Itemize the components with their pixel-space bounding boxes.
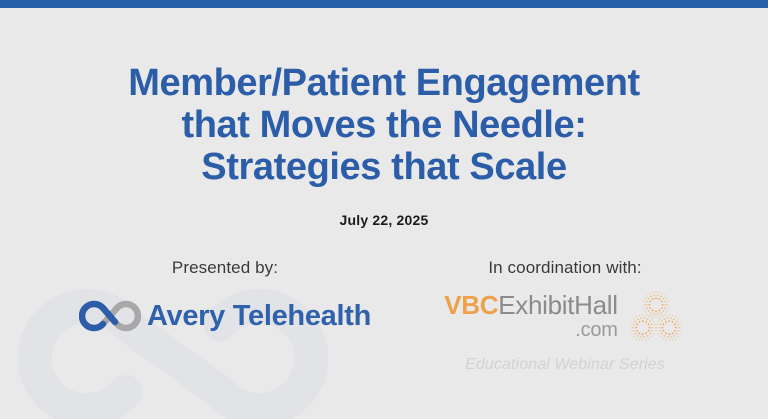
title-line-1: Member/Patient Engagement (0, 62, 768, 104)
dotted-trefoil-icon (626, 288, 686, 348)
slide-date: July 22, 2025 (0, 212, 768, 228)
coordinator-block: In coordination with: VBCExhibitHall .co… (400, 258, 730, 374)
avery-telehealth-wordmark: Avery Telehealth (147, 302, 371, 331)
vbc-domain-text: .com (444, 319, 618, 341)
infinity-loop-icon (79, 296, 141, 336)
top-accent-bar (0, 0, 768, 8)
presented-by-label: Presented by: (60, 258, 390, 278)
vbc-abbrev: VBC (444, 290, 498, 320)
in-coordination-with-label: In coordination with: (400, 258, 730, 278)
webinar-title-slide: Member/Patient Engagement that Moves the… (0, 0, 768, 419)
presenter-block: Presented by: Avery Telehealth (60, 258, 390, 336)
avery-telehealth-logo: Avery Telehealth (60, 296, 390, 336)
title-line-3: Strategies that Scale (0, 146, 768, 188)
vbc-wordmark-line-1: VBCExhibitHall (444, 292, 618, 319)
exhibit-hall-text: ExhibitHall (498, 290, 618, 320)
vbc-exhibit-hall-logo: VBCExhibitHall .com (400, 292, 730, 348)
educational-webinar-series-tagline: Educational Webinar Series (400, 356, 730, 374)
title-line-2: that Moves the Needle: (0, 104, 768, 146)
vbc-wordmark: VBCExhibitHall .com (444, 292, 618, 341)
slide-title: Member/Patient Engagement that Moves the… (0, 62, 768, 188)
